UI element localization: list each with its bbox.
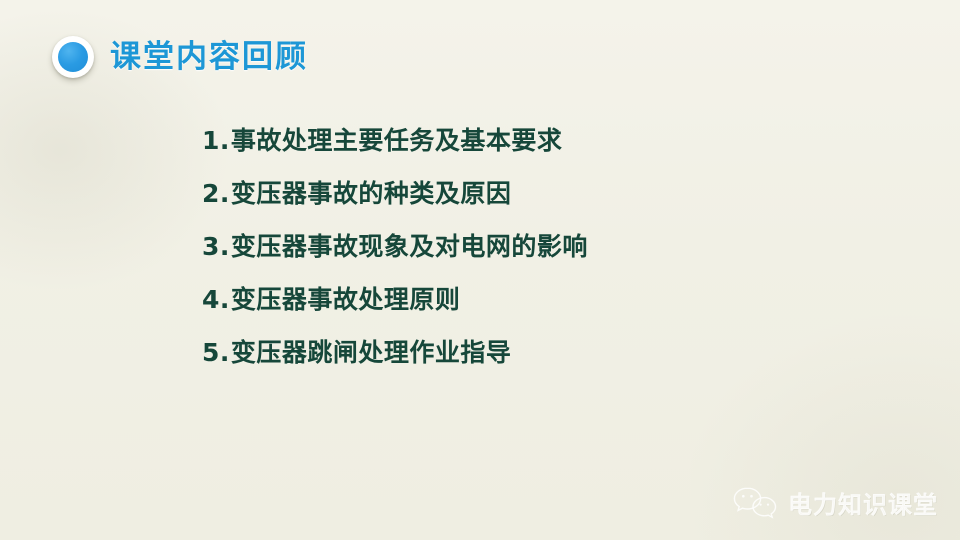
list-item-label: 事故处理主要任务及基本要求 — [231, 114, 563, 167]
list-item-number: 3. — [202, 220, 230, 273]
list-item-label: 变压器事故处理原则 — [231, 273, 461, 326]
list-item: 3. 变压器事故现象及对电网的影响 — [202, 220, 588, 273]
agenda-list: 1. 事故处理主要任务及基本要求 2. 变压器事故的种类及原因 3. 变压器事故… — [202, 114, 588, 379]
list-item: 4. 变压器事故处理原则 — [202, 273, 588, 326]
list-item: 5. 变压器跳闸处理作业指导 — [202, 326, 588, 379]
page-title: 课堂内容回顾 — [110, 42, 308, 73]
list-item-label: 变压器跳闸处理作业指导 — [231, 326, 512, 379]
blue-circle-bullet-fill — [58, 42, 88, 72]
list-item-label: 变压器事故的种类及原因 — [231, 167, 512, 220]
list-item-number: 5. — [202, 326, 230, 379]
list-item: 1. 事故处理主要任务及基本要求 — [202, 114, 588, 167]
list-item: 2. 变压器事故的种类及原因 — [202, 167, 588, 220]
list-item-number: 4. — [202, 273, 230, 326]
watermark-label: 电力知识课堂 — [788, 485, 938, 520]
slide-canvas: 课堂内容回顾 1. 事故处理主要任务及基本要求 2. 变压器事故的种类及原因 3… — [0, 0, 960, 540]
list-item-number: 2. — [202, 167, 230, 220]
list-item-number: 1. — [202, 114, 230, 167]
blue-circle-bullet-icon — [52, 36, 94, 78]
watermark: 电力知识课堂 — [732, 485, 938, 520]
wechat-icon — [732, 486, 778, 520]
slide-header: 课堂内容回顾 — [52, 36, 308, 78]
list-item-label: 变压器事故现象及对电网的影响 — [231, 220, 588, 273]
